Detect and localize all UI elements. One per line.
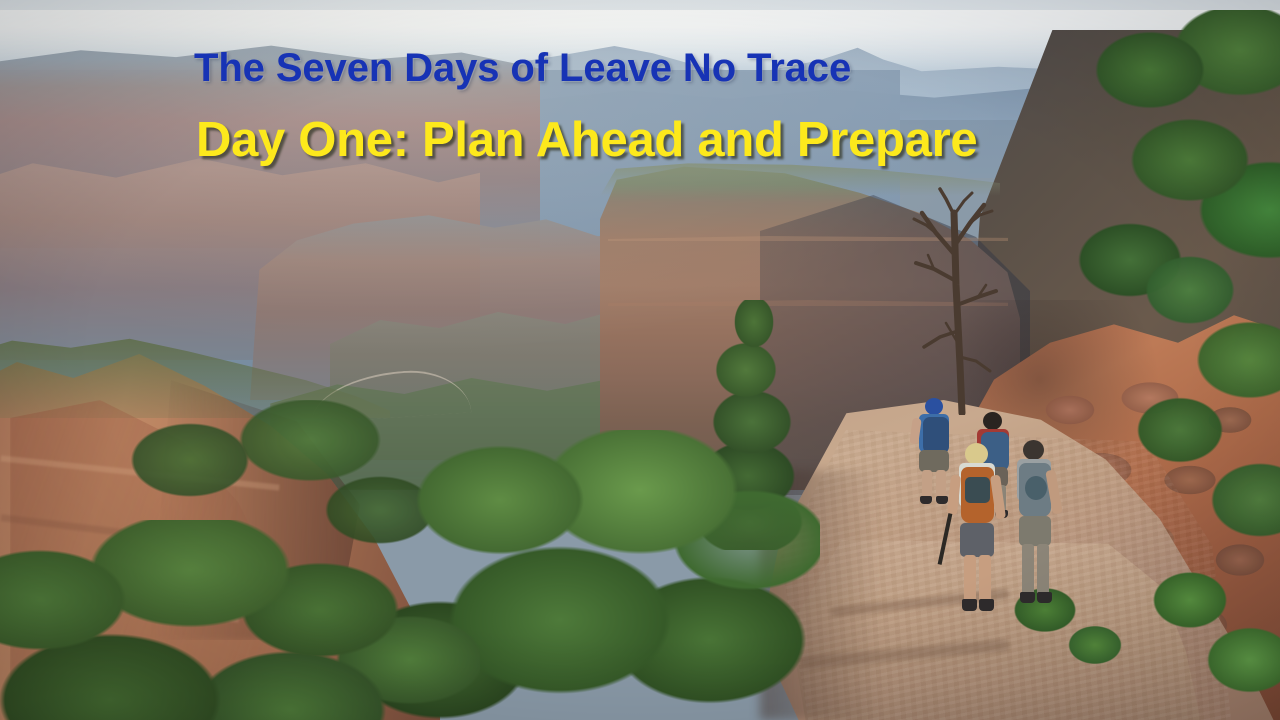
vegetation-mid-right xyxy=(1120,250,1280,580)
canyon-photo-scene xyxy=(0,0,1280,720)
vegetation-lower-right xyxy=(1140,560,1280,720)
slide-canvas: The Seven Days of Leave No Trace Day One… xyxy=(0,0,1280,720)
dead-tree xyxy=(900,185,1050,415)
vegetation-bottom-left xyxy=(0,520,480,720)
series-title: The Seven Days of Leave No Trace xyxy=(194,48,851,88)
hiker-gray-pack xyxy=(1005,440,1063,618)
episode-title: Day One: Plan Ahead and Prepare xyxy=(196,116,977,165)
hiker-orange-pack xyxy=(945,443,1007,629)
